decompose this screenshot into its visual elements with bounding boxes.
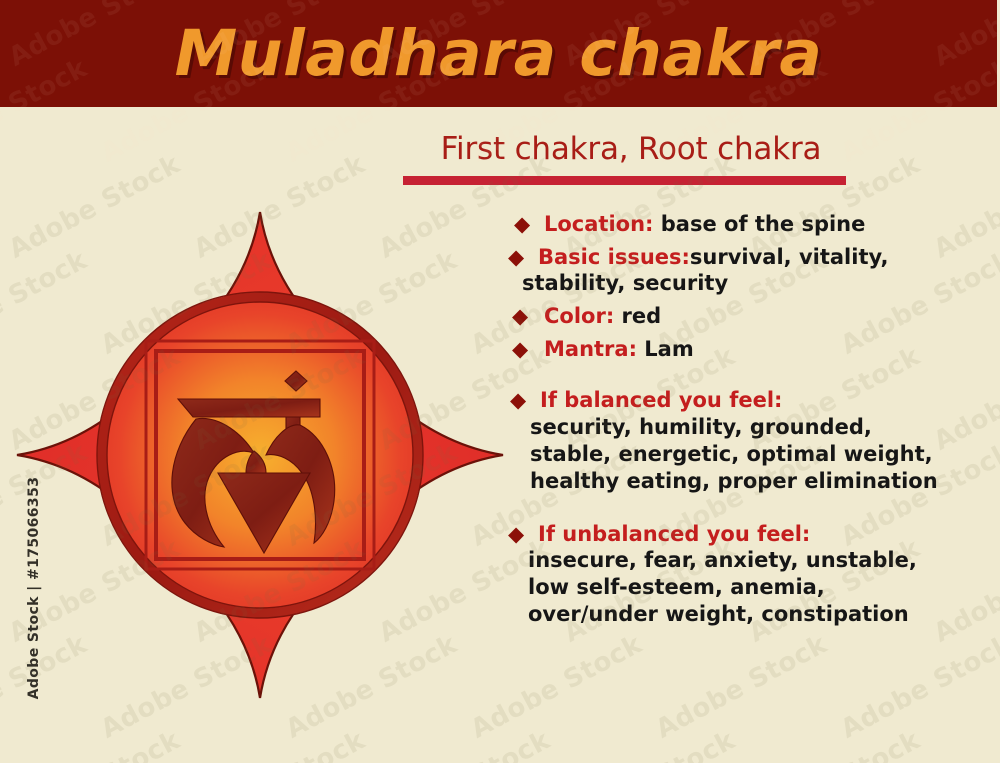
fact-basic-issues: ◆ Basic issues:survival, vitality, stabi…: [508, 244, 988, 298]
glyph-top-bar: [178, 399, 320, 417]
fact-mantra-line: Mantra: Lam: [508, 336, 988, 363]
fact-if-unbalanced-line: If unbalanced you feel:: [508, 521, 988, 548]
fact-color-value: red: [622, 304, 662, 328]
fact-location-value: base of the spine: [661, 212, 866, 236]
fact-basic-issues-line: Basic issues:survival, vitality,: [508, 244, 988, 271]
subtitle-underline-rule: [403, 176, 846, 185]
fact-color: ◆ Color: red: [508, 303, 988, 330]
fact-if-balanced-label: If balanced you feel:: [540, 388, 782, 412]
fact-mantra: ◆ Mantra: Lam: [508, 336, 988, 363]
fact-list: ◆ Location: base of the spine ◆ Basic is…: [508, 211, 988, 628]
watermark-text: Adobe Stock: [559, 725, 740, 763]
fact-location-line: Location: base of the spine: [508, 211, 988, 238]
diamond-bullet-icon: ◆: [512, 339, 528, 360]
diamond-bullet-icon: ◆: [508, 524, 524, 545]
subtitle: First chakra, Root chakra: [406, 132, 856, 168]
content-column: First chakra, Root chakra ◆ Location: ba…: [400, 132, 990, 632]
fact-basic-issues-value: survival, vitality,: [690, 245, 889, 269]
fact-if-unbalanced-continuation: insecure, fear, anxiety, unstable, low s…: [508, 547, 988, 628]
watermark-text: Adobe Stock: [744, 725, 925, 763]
watermark-text: Adobe Stock: [929, 725, 1000, 763]
watermark-text: Adobe Stock: [836, 629, 1000, 744]
fact-location: ◆ Location: base of the spine: [508, 211, 988, 238]
fact-if-unbalanced-label: If unbalanced you feel:: [538, 522, 810, 546]
stock-credit-label: Adobe Stock | #175066353: [26, 458, 42, 718]
fact-mantra-label: Mantra:: [544, 337, 637, 361]
diamond-bullet-icon: ◆: [510, 390, 526, 411]
fact-if-balanced: ◆ If balanced you feel: security, humili…: [508, 387, 988, 495]
watermark-text: Adobe Stock: [651, 629, 832, 744]
poster-canvas: Muladhara chakra: [0, 0, 1000, 763]
fact-color-label: Color:: [544, 304, 614, 328]
fact-if-balanced-continuation: security, humility, grounded, stable, en…: [508, 414, 988, 495]
fact-if-balanced-line: If balanced you feel:: [508, 387, 988, 414]
fact-basic-issues-label: Basic issues:: [538, 245, 690, 269]
fact-color-line: Color: red: [508, 303, 988, 330]
fact-location-label: Location:: [544, 212, 653, 236]
watermark-text: Adobe Stock: [189, 725, 370, 763]
watermark-text: Adobe Stock: [4, 725, 185, 763]
page-title: Muladhara chakra: [0, 0, 997, 107]
diamond-bullet-icon: ◆: [512, 306, 528, 327]
fact-basic-issues-continuation: stability, security: [508, 270, 988, 297]
watermark-text: Adobe Stock: [374, 725, 555, 763]
fact-if-unbalanced: ◆ If unbalanced you feel: insecure, fear…: [508, 521, 988, 629]
diamond-bullet-icon: ◆: [508, 247, 524, 268]
diamond-bullet-icon: ◆: [514, 214, 530, 235]
fact-mantra-value: Lam: [644, 337, 693, 361]
